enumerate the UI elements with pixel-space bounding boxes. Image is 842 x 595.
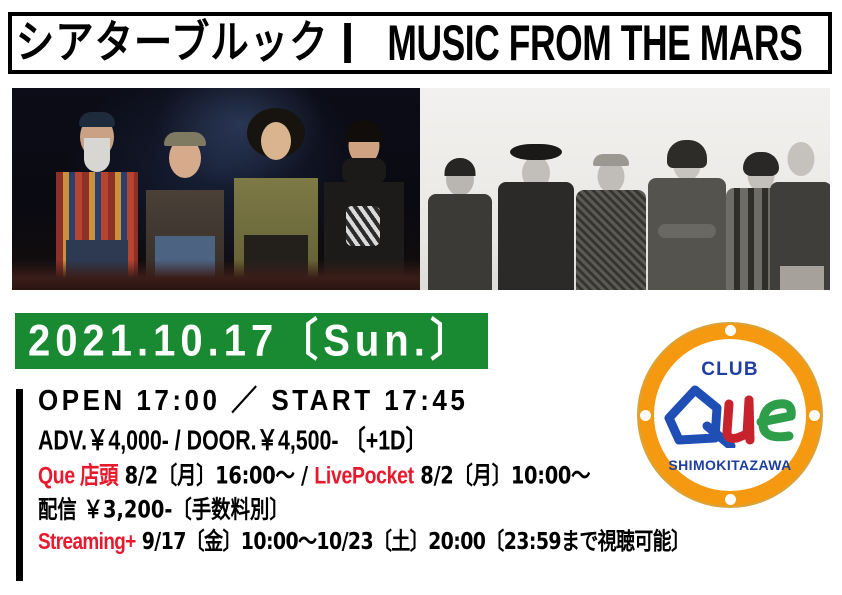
band-member-figure	[56, 112, 138, 290]
member-hat	[510, 144, 562, 160]
vendor-que-time: 8/2〔月〕16:00〜 /	[118, 461, 314, 490]
title-inner: シアターブルック MUSIC FROM THE MARS	[15, 23, 824, 64]
member-torso	[56, 172, 138, 290]
member-hair	[345, 120, 383, 142]
member-cap	[593, 154, 629, 166]
member-legs	[66, 240, 128, 290]
info-accent-bar	[16, 389, 23, 581]
member-cap	[164, 132, 206, 146]
logo-letter-u-stem	[749, 400, 750, 440]
band-member-figure	[146, 122, 224, 290]
title-artist-japanese: シアターブルック	[15, 21, 328, 66]
logo-letter-e	[761, 404, 791, 437]
member-torso	[498, 182, 574, 290]
band-photo-music-from-the-mars	[420, 88, 830, 290]
flyer-title-box: シアターブルック MUSIC FROM THE MARS	[8, 12, 832, 74]
logo-club-text: CLUB	[637, 360, 823, 379]
photo-strip	[12, 88, 830, 290]
member-shirt-graphic	[346, 206, 380, 246]
member-torso	[576, 190, 646, 290]
vendor-que-label: Que 店頭	[38, 463, 118, 489]
band-member-figure	[770, 140, 830, 290]
member-head	[788, 142, 815, 176]
logo-ring-dot	[725, 494, 736, 505]
logo-shimokitazawa-text: SHIMOKITAZAWA	[637, 458, 823, 472]
event-date-banner: 2021.10.17〔Sun.〕	[15, 313, 488, 369]
title-event-english: MUSIC FROM THE MARS	[387, 18, 802, 68]
vendor-livepocket-label: LivePocket	[314, 463, 414, 489]
member-torso	[428, 194, 492, 290]
member-legs	[244, 235, 308, 290]
member-hair	[445, 158, 476, 176]
streaming-schedule-line: Streaming+ 9/17〔金〕10:00〜10/23〔土〕20:00〔23…	[38, 530, 814, 555]
member-hair	[667, 140, 707, 168]
band-member-figure	[576, 150, 646, 290]
title-separator-bar	[343, 23, 350, 63]
member-torso	[234, 178, 318, 290]
vendor-livepocket-time: 8/2〔月〕10:00〜	[414, 461, 590, 490]
band-member-figure	[498, 142, 574, 290]
logo-ring-dot	[725, 325, 736, 336]
streaming-schedule: 9/17〔金〕10:00〜10/23〔土〕20:00〔23:59まで視聴可能〕	[136, 528, 690, 556]
member-trousers	[780, 266, 824, 290]
member-head	[261, 122, 291, 160]
member-legs	[155, 236, 214, 290]
member-arms-crossed	[658, 224, 716, 238]
club-que-logo: CLUB SHIMOKITAZAWA	[637, 322, 823, 508]
band-member-figure	[324, 118, 404, 290]
band-member-figure	[428, 158, 492, 290]
member-beard	[84, 138, 110, 172]
member-scarf	[342, 158, 386, 184]
band-member-figure	[234, 108, 318, 290]
band-photo-theatre-brook	[12, 88, 420, 290]
event-date-text: 2021.10.17〔Sun.〕	[28, 319, 475, 364]
band-member-figure	[648, 138, 726, 290]
member-hat	[79, 112, 115, 127]
streaming-plus-label: Streaming+	[38, 529, 136, 555]
logo-que-wordmark	[637, 378, 823, 448]
